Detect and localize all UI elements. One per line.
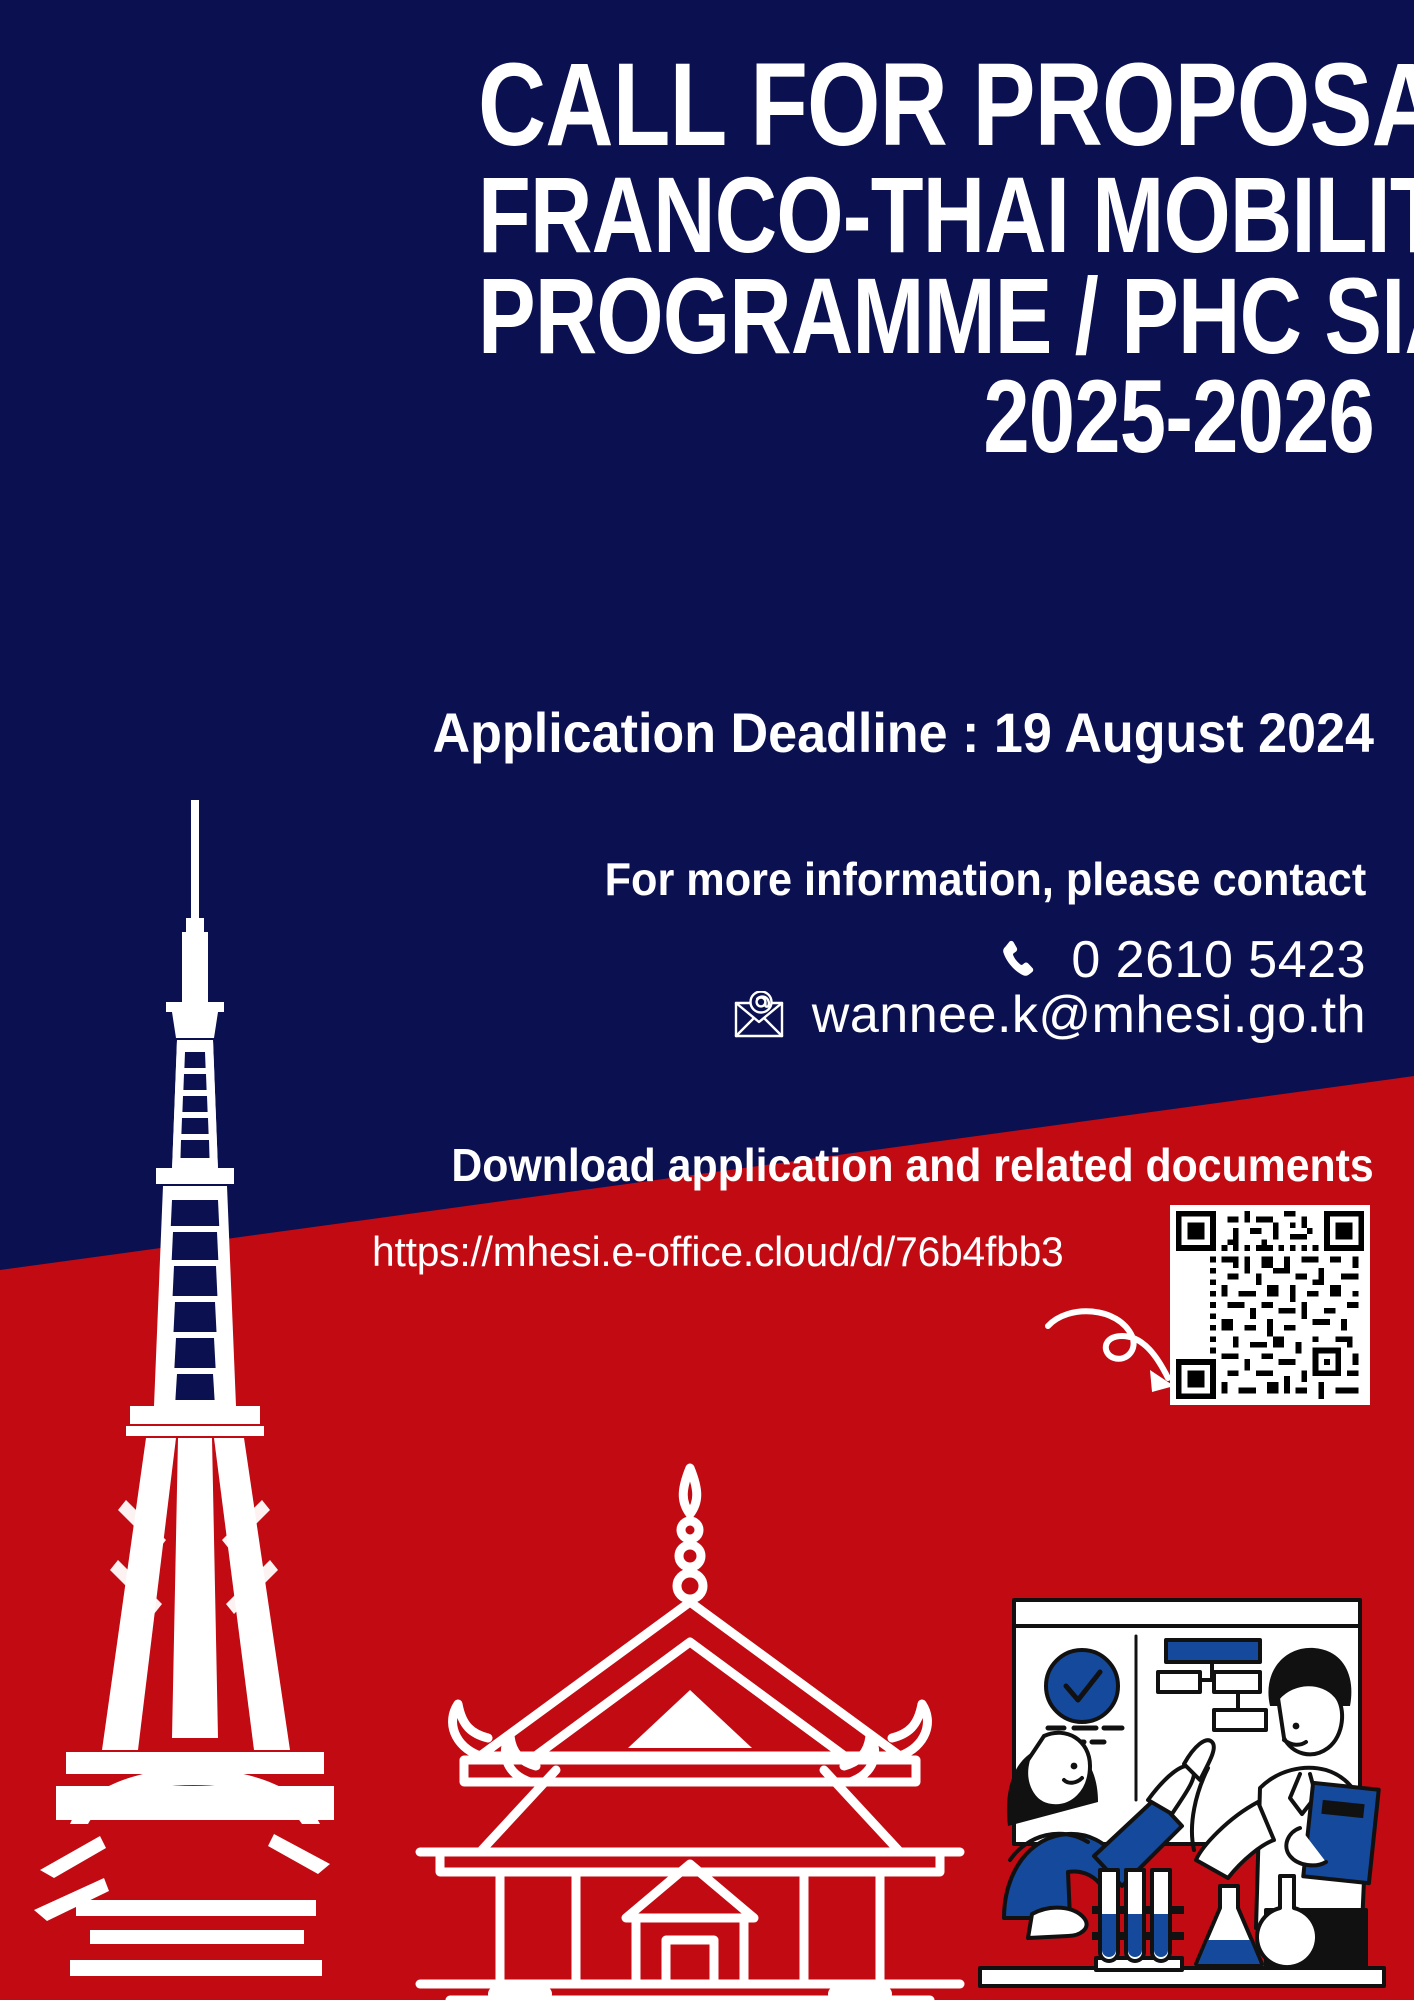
email-address: wannee.k@mhesi.go.th xyxy=(812,985,1366,1045)
phone-icon xyxy=(991,931,1049,989)
contact-phone-row: 0 2610 5423 xyxy=(991,930,1366,990)
email-at-icon xyxy=(732,986,790,1044)
contact-email-row: wannee.k@mhesi.go.th xyxy=(732,985,1366,1045)
contact-heading: For more information, please contact xyxy=(604,852,1366,906)
download-url[interactable]: https://mhesi.e-office.cloud/d/76b4fbb3 xyxy=(372,1228,1064,1276)
two-scientists-high-five-lab-illustration xyxy=(970,1588,1390,2000)
curved-arrow-to-qr-icon xyxy=(1040,1300,1190,1410)
phone-number: 0 2610 5423 xyxy=(1071,930,1366,990)
application-deadline: Application Deadline : 19 August 2024 xyxy=(332,700,1374,765)
poster: CALL FOR PROPOSALS FRANCO-THAI MOBILITY … xyxy=(0,0,1414,2000)
page-title: CALL FOR PROPOSALS FRANCO-THAI MOBILITY … xyxy=(254,52,1374,464)
thai-temple-illustration xyxy=(380,1460,1000,2000)
title-line-1: CALL FOR PROPOSALS xyxy=(478,52,1374,158)
title-line-4-years: 2025-2026 xyxy=(478,371,1374,465)
download-heading: Download application and related documen… xyxy=(452,1138,1374,1192)
title-line-2: FRANCO-THAI MOBILITY xyxy=(478,166,1374,263)
eiffel-tower-illustration xyxy=(30,800,360,2000)
qr-code[interactable] xyxy=(1170,1205,1370,1405)
title-line-3: PROGRAMME / PHC SIAM xyxy=(478,267,1374,364)
